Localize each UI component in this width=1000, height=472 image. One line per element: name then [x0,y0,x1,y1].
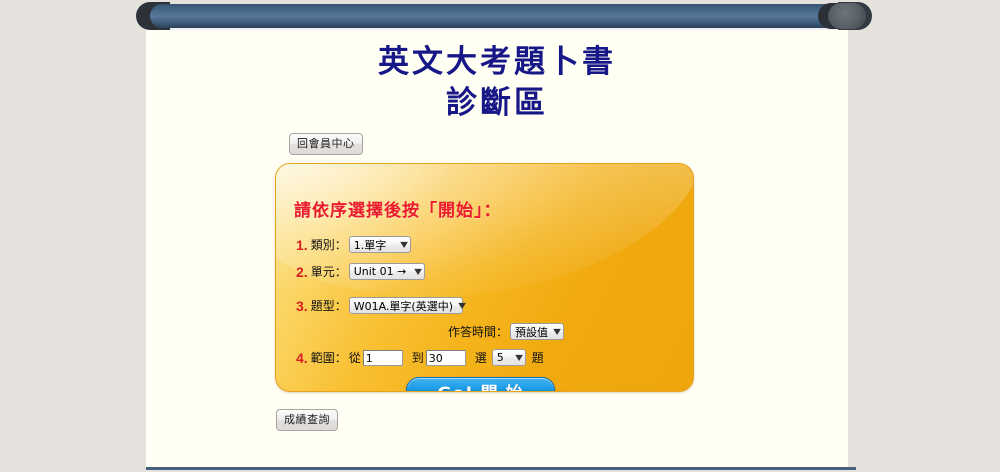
unit-select-value: Unit 01 → [354,265,407,278]
page-title: 英文大考題卜書 診斷區 [146,26,848,124]
start-button-label: Go! 開 始 [437,379,523,392]
horizontal-scrollbar[interactable] [136,2,872,30]
chevron-down-icon: ▼ [400,240,408,249]
pick-count-label: 選 [475,349,487,366]
chevron-down-icon: ▼ [515,353,523,362]
panel-heading: 請依序選擇後按「開始」： [276,164,693,221]
chevron-down-icon: ▼ [553,327,561,336]
score-query-button-wrap: 成績查詢 [146,392,848,431]
category-select-value: 1.單字 [354,237,387,253]
page-content-area: 英文大考題卜書 診斷區 回會員中心 請依序選擇後按「開始」： 1. 類別： 1.… [146,26,848,468]
range-to-label: 到 [412,349,424,366]
step-number-2: 2. [296,264,308,280]
form-row-range: 4. 範圍： 從 1 到 30 選 5 ▼ 題 [296,347,693,368]
range-to-input[interactable]: 30 [426,350,466,366]
answer-time-select[interactable]: 預設值 ▼ [510,323,564,340]
answer-time-select-value: 預設值 [515,324,548,340]
desktop-background: 英文大考題卜書 診斷區 回會員中心 請依序選擇後按「開始」： 1. 類別： 1.… [0,0,1000,472]
step-number-1: 1. [296,237,308,253]
category-label: 類別： [311,236,347,253]
range-label: 範圍： [311,349,347,366]
question-type-label: 題型： [311,297,347,314]
start-button[interactable]: Go! 開 始 [406,377,555,392]
member-center-button-wrap: 回會員中心 [146,124,848,155]
scrollbar-thumb[interactable] [150,4,860,28]
answer-time-label: 作答時間： [448,323,508,340]
step-number-3: 3. [296,298,308,314]
site-title-line1: 英文大考題卜書 [146,42,848,83]
pick-count-select[interactable]: 5 ▼ [492,349,526,366]
step-number-4: 4. [296,350,308,366]
site-title-line2: 診斷區 [146,83,848,124]
pick-count-select-value: 5 [497,351,504,364]
form-row-answer-time: 作答時間： 預設值 ▼ [296,323,693,340]
range-from-label: 從 [349,349,361,366]
scrollbar-knob[interactable] [828,3,866,29]
bottom-scrollbar[interactable] [146,467,856,470]
form-row-category: 1. 類別： 1.單字 ▼ [296,234,693,255]
question-type-select-value: W01A.單字(英選中) [354,298,453,314]
unit-label: 單元： [311,263,347,280]
form-row-question-type: 3. 題型： W01A.單字(英選中) ▼ [296,295,693,316]
score-query-button[interactable]: 成績查詢 [276,409,338,431]
member-center-button[interactable]: 回會員中心 [289,133,363,155]
question-unit-label: 題 [532,349,544,366]
chevron-down-icon: ▼ [414,267,422,276]
form-row-unit: 2. 單元： Unit 01 → ▼ [296,261,693,282]
quiz-setup-panel: 請依序選擇後按「開始」： 1. 類別： 1.單字 ▼ 2. 單 [275,163,694,392]
submit-button-wrap: Go! 開 始 [296,377,693,392]
category-select[interactable]: 1.單字 ▼ [349,236,411,253]
question-type-select[interactable]: W01A.單字(英選中) ▼ [349,297,463,314]
chevron-down-icon: ▼ [458,301,466,310]
quiz-setup-form: 1. 類別： 1.單字 ▼ 2. 單元： Unit 01 → ▼ [276,221,693,392]
range-from-input[interactable]: 1 [363,350,403,366]
unit-select[interactable]: Unit 01 → ▼ [349,263,425,280]
